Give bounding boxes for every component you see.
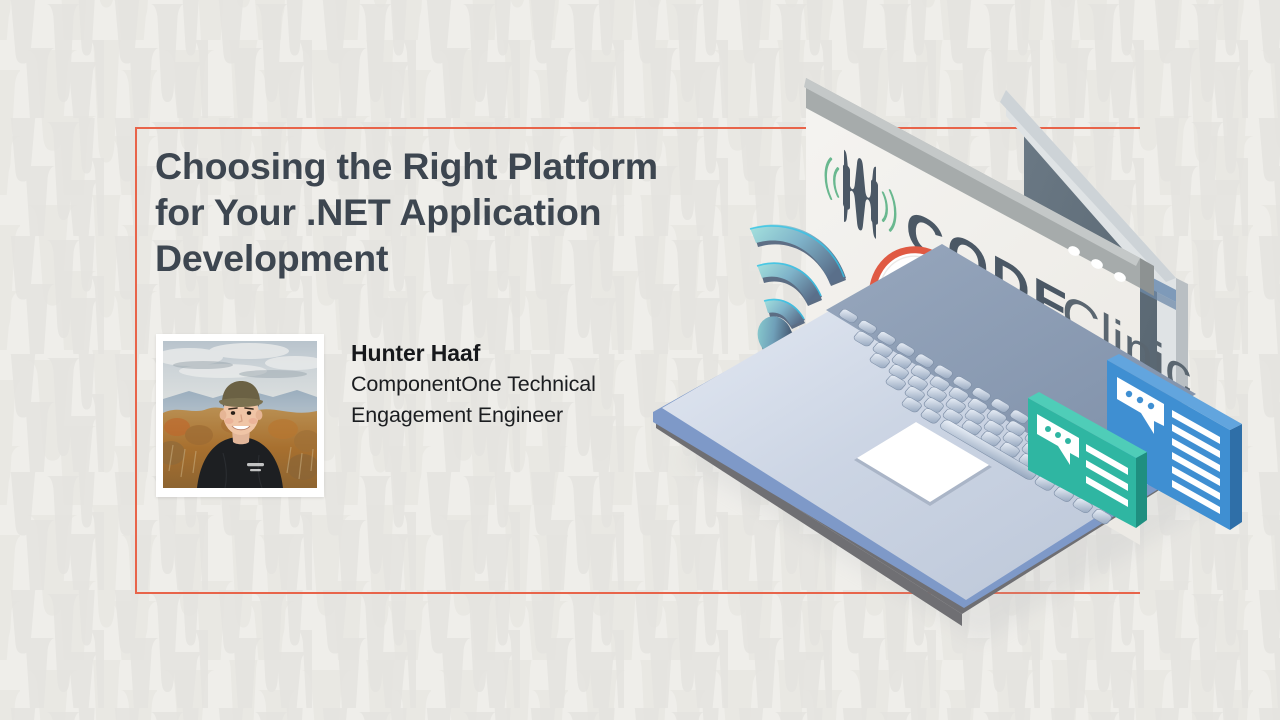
avatar [163, 341, 317, 488]
speaker-details: Hunter Haaf ComponentOne Technical Engag… [351, 334, 596, 431]
speaker-role-line-2: Engagement Engineer [351, 403, 563, 427]
speaker-block: Hunter Haaf ComponentOne Technical Engag… [156, 334, 596, 497]
avatar-photo-image [163, 341, 317, 488]
title-line-2: for Your .NET Application [155, 191, 601, 233]
speaker-name: Hunter Haaf [351, 338, 596, 369]
avatar-frame [156, 334, 324, 497]
title-block: Choosing the Right Platform for Your .NE… [155, 143, 775, 281]
speaker-role: ComponentOne Technical Engagement Engine… [351, 369, 596, 431]
page-title: Choosing the Right Platform for Your .NE… [155, 143, 775, 281]
webinar-title-slide: CODE Clinic [0, 0, 1280, 720]
title-line-1: Choosing the Right Platform [155, 145, 658, 187]
title-line-3: Development [155, 237, 388, 279]
laptop-illustration: CODE Clinic [620, 30, 1280, 690]
speaker-role-line-1: ComponentOne Technical [351, 372, 596, 396]
